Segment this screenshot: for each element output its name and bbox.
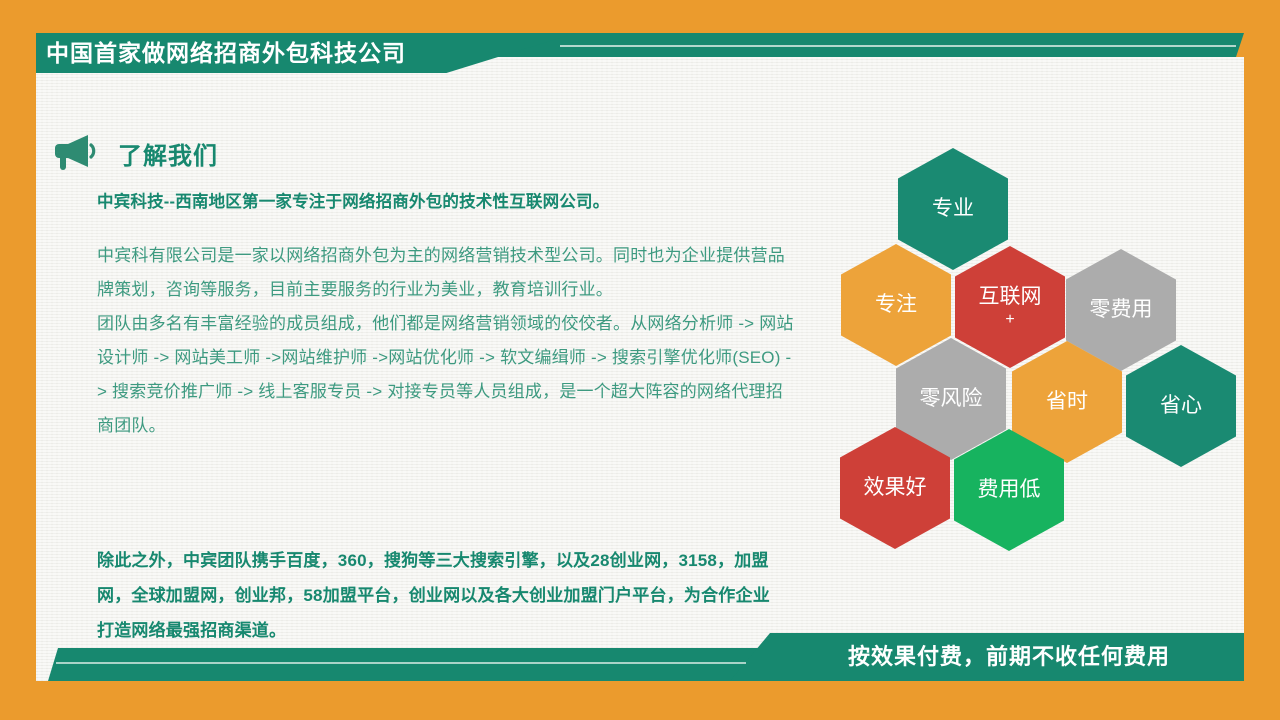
page-title: 中国首家做网络招商外包科技公司 <box>46 36 406 70</box>
lead-paragraph: 中宾科技--西南地区第一家专注于网络招商外包的技术性互联网公司。 <box>97 190 797 215</box>
hexagon-label: 效果好 <box>864 476 927 500</box>
closing-paragraph: 除此之外，中宾团队携手百度，360，搜狗等三大搜索引擎，以及28创业网，3158… <box>97 543 787 648</box>
hexagon-label: 互联网 <box>979 285 1042 309</box>
hexagon-label: 零风险 <box>920 387 983 411</box>
body-paragraph-1: 中宾科有限公司是一家以网络招商外包为主的网络营销技术型公司。同时也为企业提供营品… <box>97 239 797 307</box>
header-divider-line <box>560 45 1236 47</box>
hexagon-sublabel: + <box>979 311 1042 329</box>
hexagon-label: 专注 <box>875 293 917 317</box>
megaphone-icon <box>52 133 100 173</box>
footer-divider-line <box>56 662 746 664</box>
footer-tagline: 按效果付费，前期不收任何费用 <box>848 640 1170 674</box>
section-heading: 了解我们 <box>52 133 218 173</box>
hexagon-label: 省心 <box>1160 394 1202 418</box>
hexagon-label: 费用低 <box>978 478 1041 502</box>
hexagon-label: 省时 <box>1046 390 1088 414</box>
body-paragraph-2: 团队由多名有丰富经验的成员组成，他们都是网络营销领域的佼佼者。从网络分析师 ->… <box>97 307 797 443</box>
hexagon-label: 专业 <box>932 197 974 221</box>
slide-canvas: 中国首家做网络招商外包科技公司 了解我们 中宾科技--西南地区第一家专注于网络招… <box>0 0 1280 720</box>
section-title: 了解我们 <box>118 136 218 171</box>
about-copy: 中宾科技--西南地区第一家专注于网络招商外包的技术性互联网公司。 中宾科有限公司… <box>97 190 797 443</box>
hexagon-label: 零费用 <box>1090 298 1153 322</box>
